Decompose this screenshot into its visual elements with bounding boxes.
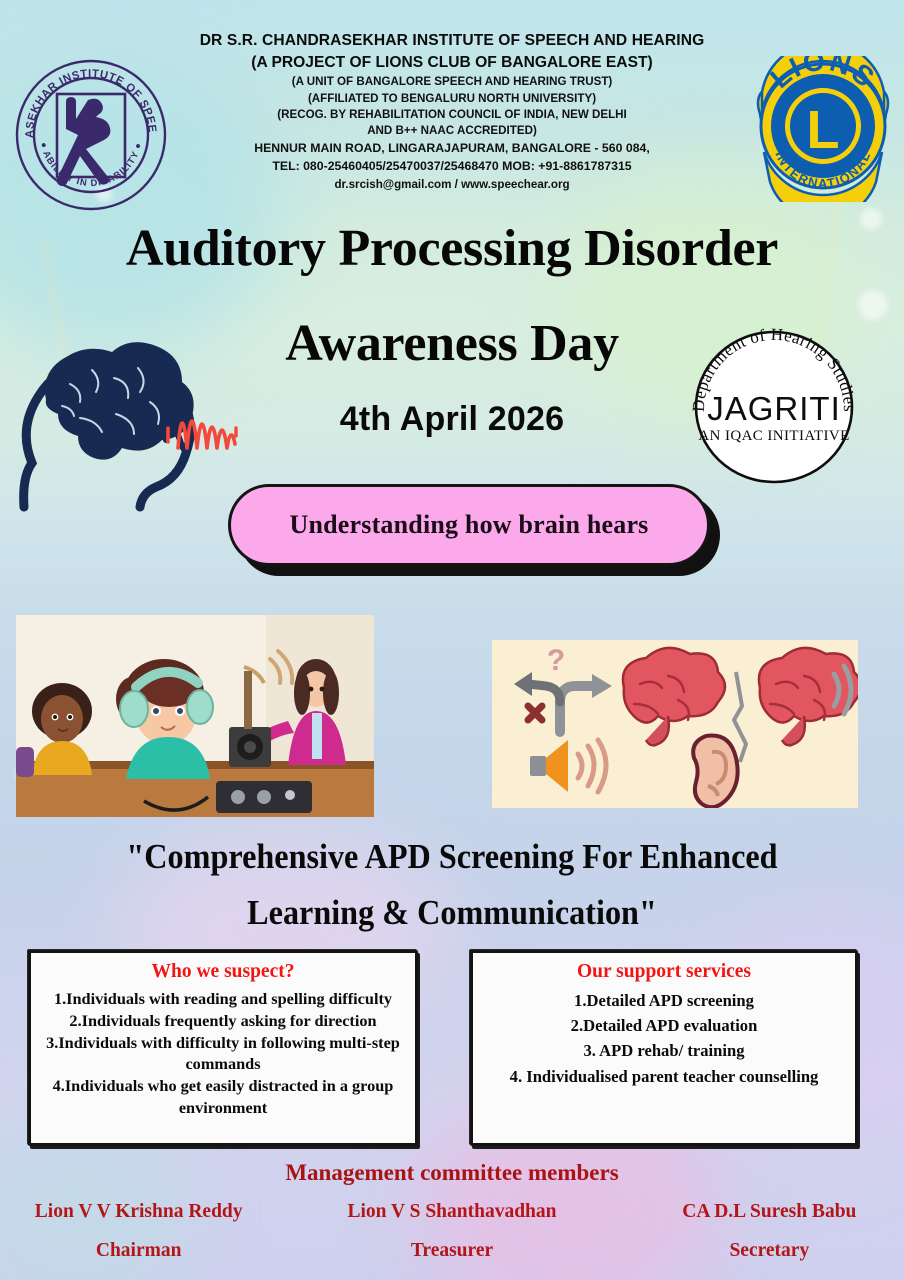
banner-pill: Understanding how brain hears xyxy=(228,484,710,566)
jagriti-subtitle: AN IQAC INITIATIVE xyxy=(698,428,849,444)
member-role: Treasurer xyxy=(301,1240,602,1262)
member-name: Lion V V Krishna Reddy xyxy=(0,1200,289,1224)
org-name-line1: DR S.R. CHANDRASEKHAR INSTITUTE OF SPEEC… xyxy=(0,30,904,52)
committee-member: Lion V V Krishna Reddy Chairman xyxy=(0,1200,289,1262)
service-item-4: 4. Individualised parent teacher counsel… xyxy=(483,1064,845,1089)
management-committee-list: Lion V V Krishna Reddy Chairman Lion V S… xyxy=(0,1200,904,1262)
suspect-item-4: 4.Individuals who get easily distracted … xyxy=(41,1075,405,1119)
tagline-banner: Understanding how brain hears xyxy=(228,484,710,574)
poster-canvas: DR. S.R.CHANDRASEKHAR INSTITUTE OF SPEEC… xyxy=(0,0,904,1280)
jagriti-name: JAGRITI xyxy=(707,390,841,427)
org-unit-line: (A UNIT OF BANGALORE SPEECH AND HEARING … xyxy=(0,74,904,90)
org-recognition-line: (RECOG. BY REHABILITATION COUNCIL OF IND… xyxy=(0,107,904,123)
service-item-1: 1.Detailed APD screening xyxy=(483,988,845,1013)
tagline-line1: "Comprehensive APD Screening For Enhance… xyxy=(36,838,868,876)
org-affiliation-line: (AFFILIATED TO BENGALURU NORTH UNIVERSIT… xyxy=(0,91,904,107)
org-phone-line: TEL: 080-25460405/25470037/25468470 MOB:… xyxy=(0,158,904,176)
suspect-item-2: 2.Individuals frequently asking for dire… xyxy=(41,1010,405,1032)
institute-header: DR S.R. CHANDRASEKHAR INSTITUTE OF SPEEC… xyxy=(0,30,904,193)
services-box-title: Our support services xyxy=(483,961,845,983)
management-committee-heading: Management committee members xyxy=(0,1160,904,1186)
member-role: Chairman xyxy=(0,1240,289,1262)
suspect-box-title: Who we suspect? xyxy=(41,961,405,983)
committee-member: CA D.L Suresh Babu Secretary xyxy=(619,1200,904,1262)
org-name-line2: (A PROJECT OF LIONS CLUB OF BANGALORE EA… xyxy=(0,52,904,75)
question-mark-icon: ? xyxy=(547,644,565,677)
photo-apd-icon-illustration: ? xyxy=(492,640,858,808)
jagriti-department-seal: Department of Hearing Studies JAGRITI AN… xyxy=(688,328,860,486)
org-email-website-line: dr.srcish@gmail.com / www.speechear.org xyxy=(0,176,904,193)
service-item-2: 2.Detailed APD evaluation xyxy=(483,1013,845,1038)
suspect-item-1: 1.Individuals with reading and spelling … xyxy=(41,988,405,1010)
support-services-box: Our support services 1.Detailed APD scre… xyxy=(470,950,858,1146)
org-address-line: HENNUR MAIN ROAD, LINGARAJAPURAM, BANGAL… xyxy=(0,140,904,158)
org-accreditation-line: AND B++ NAAC ACCREDITED) xyxy=(0,123,904,139)
member-name: Lion V S Shanthavadhan xyxy=(301,1200,602,1224)
committee-member: Lion V S Shanthavadhan Treasurer xyxy=(301,1200,602,1262)
poster-tagline: "Comprehensive APD Screening For Enhance… xyxy=(0,838,904,932)
photo-children-hearing-test xyxy=(16,615,374,817)
tagline-line2: Learning & Communication" xyxy=(36,894,868,932)
service-item-3: 3. APD rehab/ training xyxy=(483,1038,845,1063)
who-we-suspect-box: Who we suspect? 1.Individuals with readi… xyxy=(28,950,418,1146)
member-name: CA D.L Suresh Babu xyxy=(619,1200,904,1224)
member-role: Secretary xyxy=(619,1240,904,1262)
title-line1: Auditory Processing Disorder xyxy=(126,220,778,277)
banner-text: Understanding how brain hears xyxy=(289,510,648,540)
cross-x-icon xyxy=(528,706,542,720)
suspect-item-3: 3.Individuals with difficulty in followi… xyxy=(41,1032,405,1076)
